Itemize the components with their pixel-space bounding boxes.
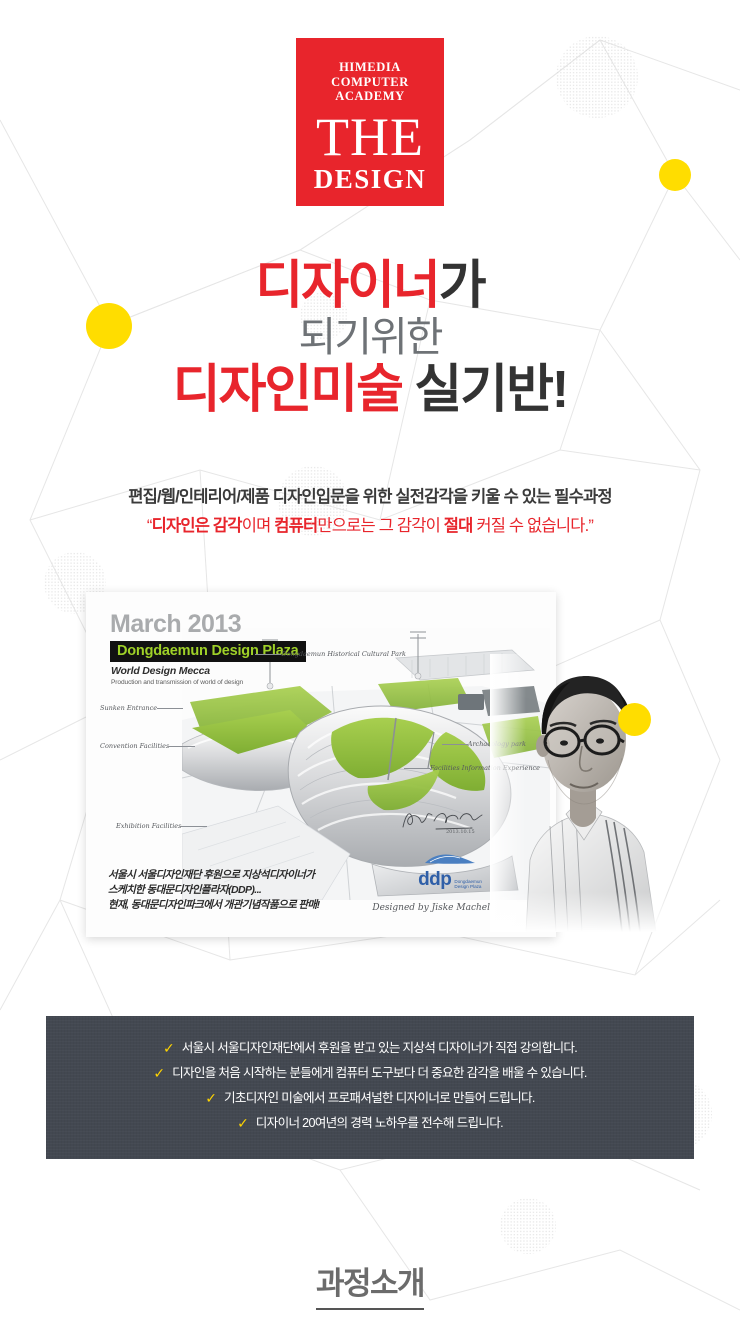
check-icon: ✓ (205, 1091, 217, 1105)
poster-caption-line-1: 서울시 서울디자인재단 후원으로 지상석디자이너가 (108, 868, 320, 883)
headline-red-design-art: 디자인미술 (173, 361, 402, 419)
logo-word-the: THE (316, 112, 424, 162)
poster-caption-line-3: 현재, 동대문디자인파크에서 개관기념작품으로 판매! (108, 898, 320, 913)
headline-dark-practice: 실기반! (402, 361, 567, 419)
quote-bold-2: 컴퓨터 (274, 517, 317, 535)
ddp-wordmark: ddp (418, 870, 451, 889)
headline-line-1: 디자이너가 (0, 258, 740, 314)
poster-month-label: March 2013 (110, 610, 241, 639)
quote-text-2: 만으로는 그 감각이 (317, 517, 443, 535)
check-icon: ✓ (153, 1066, 165, 1080)
poster-caption-line-2: 스케치한 동대문디자인플라자(DDP)... (108, 883, 320, 898)
list-item: ✓ 디자인을 처음 시작하는 분들에게 컴퓨터 도구보다 더 중요한 감각을 배… (153, 1065, 586, 1081)
decor-yellow-dot (659, 159, 691, 191)
page-title: 디자이너가 되기위한 디자인미술 실기반! (0, 258, 740, 419)
section-heading-wrap: 과정소개 (0, 1258, 740, 1310)
check-icon: ✓ (237, 1116, 249, 1130)
section-heading: 과정소개 (316, 1258, 424, 1310)
ddp-logo: ddp Dongdaemun Design Plaza (418, 852, 482, 889)
annotation-sunken-entrance: Sunken Entrance (100, 704, 157, 712)
list-item: ✓ 디자이너 20여년의 경력 노하우를 전수해 드립니다. (237, 1115, 503, 1131)
check-icon: ✓ (163, 1041, 175, 1055)
annotation-historical-park: Dongdaemun Historical Cultural Park (281, 650, 406, 658)
subtitle-block: 편집/웹/인테리어/제품 디자인입문을 위한 실전감각을 키울 수 있는 필수과… (0, 485, 740, 539)
list-item: ✓ 서울시 서울디자인재단에서 후원을 받고 있는 지상석 디자이너가 직접 강… (163, 1040, 577, 1056)
ddp-swoosh-icon (424, 852, 476, 865)
poster-mecca-label: World Design Mecca (111, 665, 210, 677)
list-item: ✓ 기초디자인 미술에서 프로패셔널한 디자이너로 만들어 드립니다. (205, 1090, 534, 1106)
headline-line-3: 디자인미술 실기반! (0, 361, 740, 419)
poster-caption: 서울시 서울디자인재단 후원으로 지상석디자이너가 스케치한 동대문디자인플라자… (108, 868, 320, 913)
instructor-portrait (490, 654, 666, 932)
decor-yellow-dot (618, 703, 651, 736)
subtitle-line-1: 편집/웹/인테리어/제품 디자인입문을 위한 실전감각을 키울 수 있는 필수과… (0, 485, 740, 509)
poster-composite: March 2013 Dongdaemun Design Plaza World… (86, 592, 666, 992)
feature-text: 서울시 서울디자인재단에서 후원을 받고 있는 지상석 디자이너가 직접 강의합… (182, 1040, 577, 1056)
halftone-circle (500, 1198, 556, 1254)
logo-line-himedia: HIMEDIA (339, 60, 401, 75)
quote-text-3: 커질 수 없습니다. (473, 517, 589, 535)
poster-ddp-title: Dongdaemun Design Plaza (110, 641, 306, 662)
feature-text: 디자인을 처음 시작하는 분들에게 컴퓨터 도구보다 더 중요한 감각을 배울 … (172, 1065, 587, 1081)
artist-signature: 2013.10.15 (400, 807, 486, 833)
academy-logo: HIMEDIA COMPUTER ACADEMY THE DESIGN (296, 38, 444, 206)
logo-word-design: DESIGN (314, 164, 427, 194)
quote-bold-3: 절대 (444, 517, 473, 535)
quote-close: ” (588, 517, 593, 535)
poster-tagline: Production and transmission of world of … (111, 679, 243, 686)
halftone-circle (556, 36, 638, 118)
annotation-exhibition-facilities: Exhibition Facilities (116, 822, 181, 830)
ddp-sub-line-2: Design Plaza (454, 884, 482, 889)
headline-line-2: 되기위한 (0, 314, 740, 361)
annotation-convention-facilities: Convention Facilities (100, 742, 169, 750)
promo-page: HIMEDIA COMPUTER ACADEMY THE DESIGN 디자이너… (0, 0, 740, 1339)
headline-red-designer: 디자이너 (255, 257, 438, 315)
logo-line-computer: COMPUTER (331, 75, 409, 90)
feature-text: 기초디자인 미술에서 프로패셔널한 디자이너로 만들어 드립니다. (224, 1090, 535, 1106)
svg-text:2013.10.15: 2013.10.15 (446, 829, 475, 833)
quote-text-1: 이며 (242, 517, 275, 535)
features-box: ✓ 서울시 서울디자인재단에서 후원을 받고 있는 지상석 디자이너가 직접 강… (46, 1016, 694, 1159)
designed-by-credit: Designed by Jiske Machel (372, 903, 490, 913)
headline-particle-ga: 가 (439, 257, 485, 315)
ddp-poster-card: March 2013 Dongdaemun Design Plaza World… (86, 592, 556, 937)
quote-bold-1: 디자인은 감각 (152, 517, 242, 535)
feature-text: 디자이너 20여년의 경력 노하우를 전수해 드립니다. (256, 1115, 503, 1131)
subtitle-line-2: “디자인은 감각이며 컴퓨터만으로는 그 감각이 절대 커질 수 없습니다.” (0, 513, 740, 539)
logo-line-academy: ACADEMY (335, 89, 404, 104)
